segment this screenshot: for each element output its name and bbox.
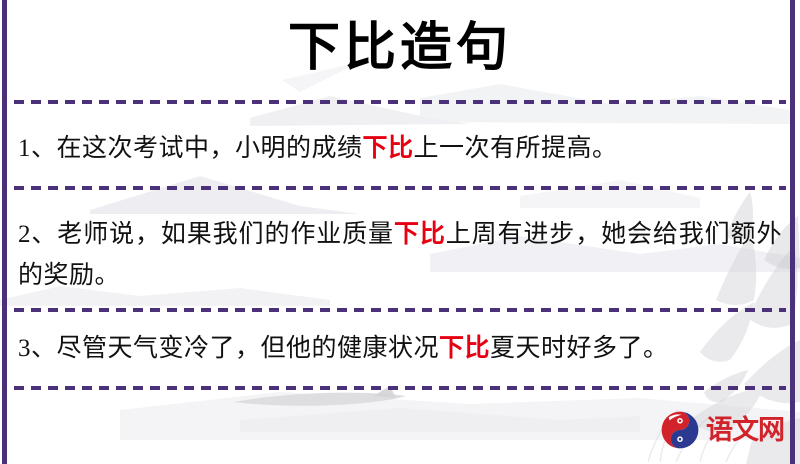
dashed-border-left [2, 0, 7, 464]
sentence-text-run: 尽管天气变冷了，但他的健康状况 [57, 335, 440, 362]
divider-bottom [14, 386, 786, 390]
sentence-index: 1、 [18, 135, 57, 162]
highlighted-keyword: 下比 [363, 135, 414, 162]
sentence-index: 3、 [18, 335, 57, 362]
logo-text: 语文网 [706, 415, 784, 445]
page-title: 下比造句 [0, 16, 800, 82]
sentence-text-run: 上一次有所提高。 [414, 135, 618, 162]
example-sentence-3: 3、尽管天气变冷了，但他的健康状况下比夏天时好多了。 [18, 328, 782, 369]
site-logo[interactable]: 语文网 [660, 408, 792, 452]
sentence-index: 2、 [18, 221, 57, 248]
divider-1 [14, 186, 786, 190]
highlighted-keyword: 下比 [439, 335, 490, 362]
slide-canvas: 下比造句 1、在这次考试中，小明的成绩下比上一次有所提高。 2、老师说，如果我们… [0, 0, 800, 464]
example-sentence-2: 2、老师说，如果我们的作业质量下比上周有进步，她会给我们额外的奖励。 [18, 214, 782, 296]
example-sentence-1: 1、在这次考试中，小明的成绩下比上一次有所提高。 [18, 128, 782, 169]
sentence-text-run: 夏天时好多了。 [490, 335, 669, 362]
sentence-text-run: 在这次考试中，小明的成绩 [57, 135, 363, 162]
highlighted-keyword: 下比 [394, 221, 446, 248]
sentence-text-run: 老师说，如果我们的作业质量 [57, 221, 394, 248]
divider-2 [14, 308, 786, 312]
divider-top [14, 100, 786, 104]
yuwen-fish-mark-icon [660, 410, 700, 450]
dashed-border-right [790, 0, 795, 464]
